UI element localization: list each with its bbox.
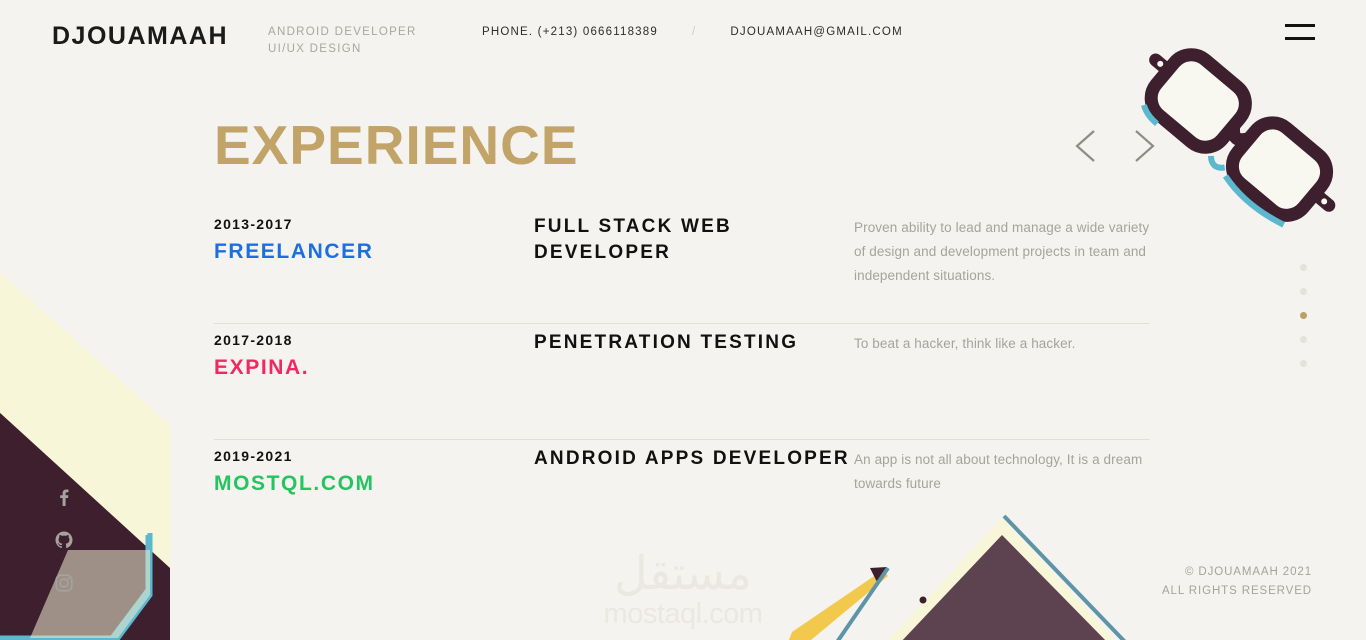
pagination-dot[interactable]	[1300, 312, 1307, 319]
experience-list: 2013-2017 FREELANCER FULL STACK WEB DEVE…	[214, 208, 1150, 556]
instagram-icon[interactable]	[53, 572, 75, 594]
experience-role-wrap: FULL STACK WEB DEVELOPER	[534, 208, 854, 266]
experience-row: 2019-2021 MOSTQL.COM ANDROID APPS DEVELO…	[214, 440, 1150, 556]
contact-info: PHONE. (+213) 0666118389 / DJOUAMAAH@GMA…	[482, 26, 903, 38]
experience-role: ANDROID APPS DEVELOPER	[534, 446, 854, 472]
experience-row: 2013-2017 FREELANCER FULL STACK WEB DEVE…	[214, 208, 1150, 324]
hamburger-icon[interactable]	[1285, 24, 1315, 40]
role-subtitle: ANDROID DEVELOPER UI/UX DESIGN	[268, 24, 417, 58]
experience-role: FULL STACK WEB DEVELOPER	[534, 214, 854, 266]
facebook-icon[interactable]	[53, 486, 75, 508]
experience-description: To beat a hacker, think like a hacker.	[854, 332, 1150, 356]
experience-description: Proven ability to lead and manage a wide…	[854, 216, 1150, 288]
experience-company: FREELANCER	[214, 240, 534, 264]
social-links	[53, 486, 75, 615]
experience-meta: 2019-2021 MOSTQL.COM	[214, 440, 534, 496]
experience-years: 2013-2017	[214, 216, 534, 232]
brand-logo[interactable]: DJOUAMAAH	[52, 22, 228, 51]
pagination-dot[interactable]	[1300, 360, 1307, 367]
experience-role-wrap: PENETRATION TESTING	[534, 324, 854, 356]
slider-navigation	[1070, 125, 1170, 167]
role-line-1: ANDROID DEVELOPER	[268, 24, 417, 41]
experience-role-wrap: ANDROID APPS DEVELOPER	[534, 440, 854, 472]
experience-description-wrap: To beat a hacker, think like a hacker.	[854, 324, 1150, 356]
experience-years: 2017-2018	[214, 332, 534, 348]
role-line-2: UI/UX DESIGN	[268, 41, 417, 58]
experience-company: EXPINA.	[214, 356, 534, 380]
copyright-line-1: © DJOUAMAAH 2021	[1050, 563, 1312, 582]
hamburger-line	[1285, 24, 1315, 27]
experience-years: 2019-2021	[214, 448, 534, 464]
email-text[interactable]: DJOUAMAAH@GMAIL.COM	[730, 26, 903, 38]
experience-description: An app is not all about technology, It i…	[854, 448, 1150, 496]
footer-copyright: © DJOUAMAAH 2021 ALL RIGHTS RESERVED	[1050, 563, 1312, 601]
experience-meta: 2013-2017 FREELANCER	[214, 208, 534, 264]
chevron-left-icon[interactable]	[1070, 125, 1104, 167]
chevron-right-icon[interactable]	[1126, 125, 1160, 167]
pagination-dot[interactable]	[1300, 288, 1307, 295]
page-title: EXPERIENCE	[214, 118, 579, 173]
github-icon[interactable]	[53, 529, 75, 551]
pagination-dots	[1300, 264, 1314, 384]
pagination-dot[interactable]	[1300, 336, 1307, 343]
experience-row: 2017-2018 EXPINA. PENETRATION TESTING To…	[214, 324, 1150, 440]
main-content: EXPERIENCE 2013-2017 FREELANCER FULL STA…	[0, 0, 1366, 640]
experience-description-wrap: Proven ability to lead and manage a wide…	[854, 208, 1150, 288]
experience-meta: 2017-2018 EXPINA.	[214, 324, 534, 380]
experience-company: MOSTQL.COM	[214, 472, 534, 496]
experience-description-wrap: An app is not all about technology, It i…	[854, 440, 1150, 496]
page-header: DJOUAMAAH ANDROID DEVELOPER UI/UX DESIGN…	[0, 0, 1366, 70]
hamburger-line	[1285, 37, 1315, 40]
pagination-dot[interactable]	[1300, 264, 1307, 271]
contact-separator: /	[692, 26, 696, 38]
experience-role: PENETRATION TESTING	[534, 330, 854, 356]
phone-text[interactable]: PHONE. (+213) 0666118389	[482, 26, 658, 38]
copyright-line-2: ALL RIGHTS RESERVED	[1050, 582, 1312, 601]
